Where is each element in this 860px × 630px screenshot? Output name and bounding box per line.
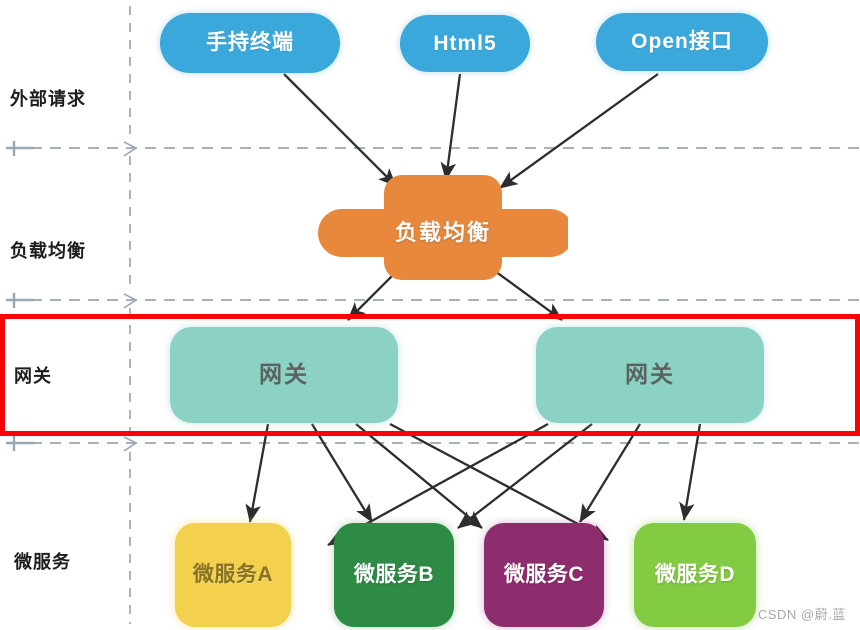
edge-gw1-to-svc-b <box>312 424 372 522</box>
lane-label-load-balancing: 负载均衡 <box>10 242 86 260</box>
edge-gw2-to-svc-b <box>458 424 592 528</box>
lane-label-microservice: 微服务 <box>14 553 71 571</box>
node-microservice-a[interactable]: 微服务A <box>175 523 291 627</box>
node-microservice-d[interactable]: 微服务D <box>634 523 756 627</box>
architecture-diagram: 外部请求 负载均衡 网关 微服务 手持终端 Html5 Open接口 负载均衡 … <box>0 0 860 630</box>
edge-handheld-to-lb <box>284 74 396 186</box>
node-html5[interactable]: Html5 <box>400 15 530 72</box>
node-load-balancer[interactable] <box>318 175 568 280</box>
node-gateway-left[interactable]: 网关 <box>170 327 398 423</box>
edges-clients-to-lb <box>284 74 658 188</box>
watermark: CSDN @蔚.蓝 <box>758 604 846 623</box>
edge-gw1-to-svc-c <box>356 424 482 528</box>
node-microservice-b[interactable]: 微服务B <box>334 523 454 627</box>
edge-gw2-to-svc-d <box>684 424 700 520</box>
node-microservice-c[interactable]: 微服务C <box>484 523 604 627</box>
edge-gw1-to-svc-a <box>250 424 268 522</box>
edge-gw2-to-svc-c <box>580 424 640 522</box>
node-gateway-right[interactable]: 网关 <box>536 327 764 423</box>
lane-label-external-request: 外部请求 <box>10 90 86 108</box>
edge-html5-to-lb <box>446 74 460 180</box>
node-open-api[interactable]: Open接口 <box>596 13 768 71</box>
node-handheld-terminal[interactable]: 手持终端 <box>160 13 340 73</box>
edge-openapi-to-lb <box>500 74 658 188</box>
